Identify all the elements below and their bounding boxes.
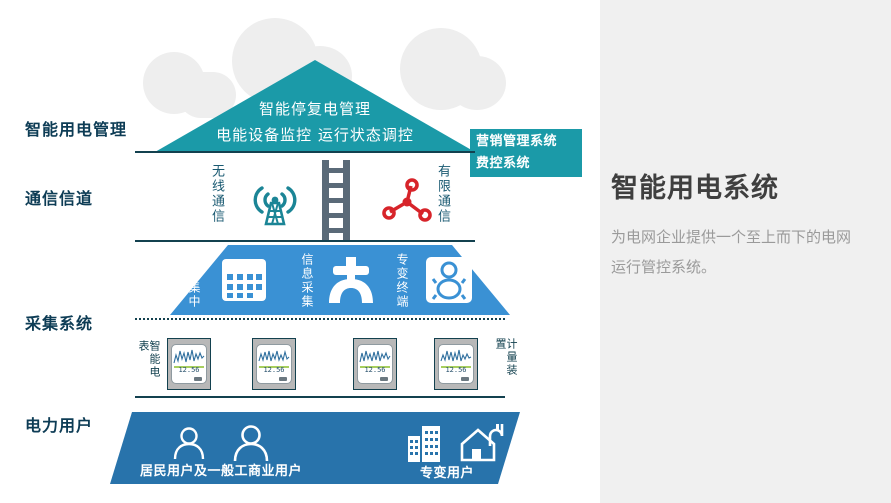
divider-roof (135, 151, 475, 153)
meter-screen: 12.56 (438, 344, 474, 384)
smart-meter: 12.56 (167, 338, 211, 390)
row-label-power-users: 电力用户 (25, 412, 93, 436)
row-label-communication-channel: 通信信道 (25, 185, 93, 209)
info-panel: 智能用电系统 为电网企业提供一个至上而下的电网运行管控系统。 (600, 0, 891, 503)
roof-triangle: 智能停复电管理 电能设备监控 运行状态调控 (155, 60, 475, 152)
house-plug-icon (460, 424, 504, 466)
meter-reading: 12.56 (257, 366, 291, 374)
battery-icon (279, 377, 287, 381)
meter-reading: 12.56 (358, 366, 392, 374)
roof-text-line1: 智能停复电管理 (155, 98, 475, 119)
collection-label-1: 信息集中 (188, 253, 200, 309)
page-description: 为电网企业提供一个至上而下的电网运行管控系统。 (611, 222, 861, 282)
residential-users-label: 居民用户及一般工商业用户 (140, 460, 302, 479)
terminal-device-icon (424, 255, 474, 309)
meter-screen: 12.56 (256, 344, 292, 384)
battery-icon (194, 377, 202, 381)
divider-meters (135, 396, 505, 398)
meter-screen: 12.56 (171, 344, 207, 384)
special-users-label: 专变用户 (420, 462, 474, 481)
meter-reading: 12.56 (172, 366, 206, 374)
ladder-icon (320, 160, 352, 246)
calendar-icon (220, 257, 268, 307)
marketing-box-line2: 费控系统 (476, 153, 582, 175)
smart-meter: 12.56 (353, 338, 397, 390)
signal-tower-icon (248, 174, 302, 232)
battery-icon (380, 377, 388, 381)
meter-reading: 12.56 (439, 366, 473, 374)
row-label-intelligent-power-management: 智能用电管理 (25, 116, 127, 140)
diagram-canvas: 智能停复电管理 电能设备监控 运行状态调控 营销管理系统 费控系统 无线通信 (0, 0, 600, 503)
divider-collection-dotted (135, 318, 505, 320)
collection-trapezoid: 信息集中 (170, 245, 510, 315)
battery-icon (461, 377, 469, 381)
collection-label-3: 专变终端 (396, 253, 408, 309)
users-trapezoid: 居民用户及一般工商业用户 专变用户 (110, 412, 520, 484)
wireless-comm-label: 无线通信 (210, 164, 223, 238)
metering-device-label: 计量装置 (495, 338, 517, 384)
communication-row: 无线通信 (190, 160, 490, 242)
page-title: 智能用电系统 (611, 166, 881, 205)
smart-meter: 12.56 (434, 338, 478, 390)
faucet-icon (325, 257, 377, 309)
meter-screen: 12.56 (357, 344, 393, 384)
person-icon (172, 426, 206, 464)
wired-comm-label: 有限通信 (436, 164, 449, 238)
row-label-collection-system: 采集系统 (25, 310, 93, 334)
divider-communication (135, 240, 475, 242)
roof-text-line2: 电能设备监控 运行状态调控 (155, 124, 475, 145)
collection-label-2: 信息采集 (301, 253, 313, 309)
network-node-icon (380, 178, 434, 230)
building-icon (407, 424, 441, 466)
marketing-box-line1: 营销管理系统 (476, 131, 582, 153)
diagram-page: 智能停复电管理 电能设备监控 运行状态调控 营销管理系统 费控系统 无线通信 (0, 0, 891, 503)
smart-meter-label: 智能电表 (138, 340, 160, 384)
smart-meter: 12.56 (252, 338, 296, 390)
